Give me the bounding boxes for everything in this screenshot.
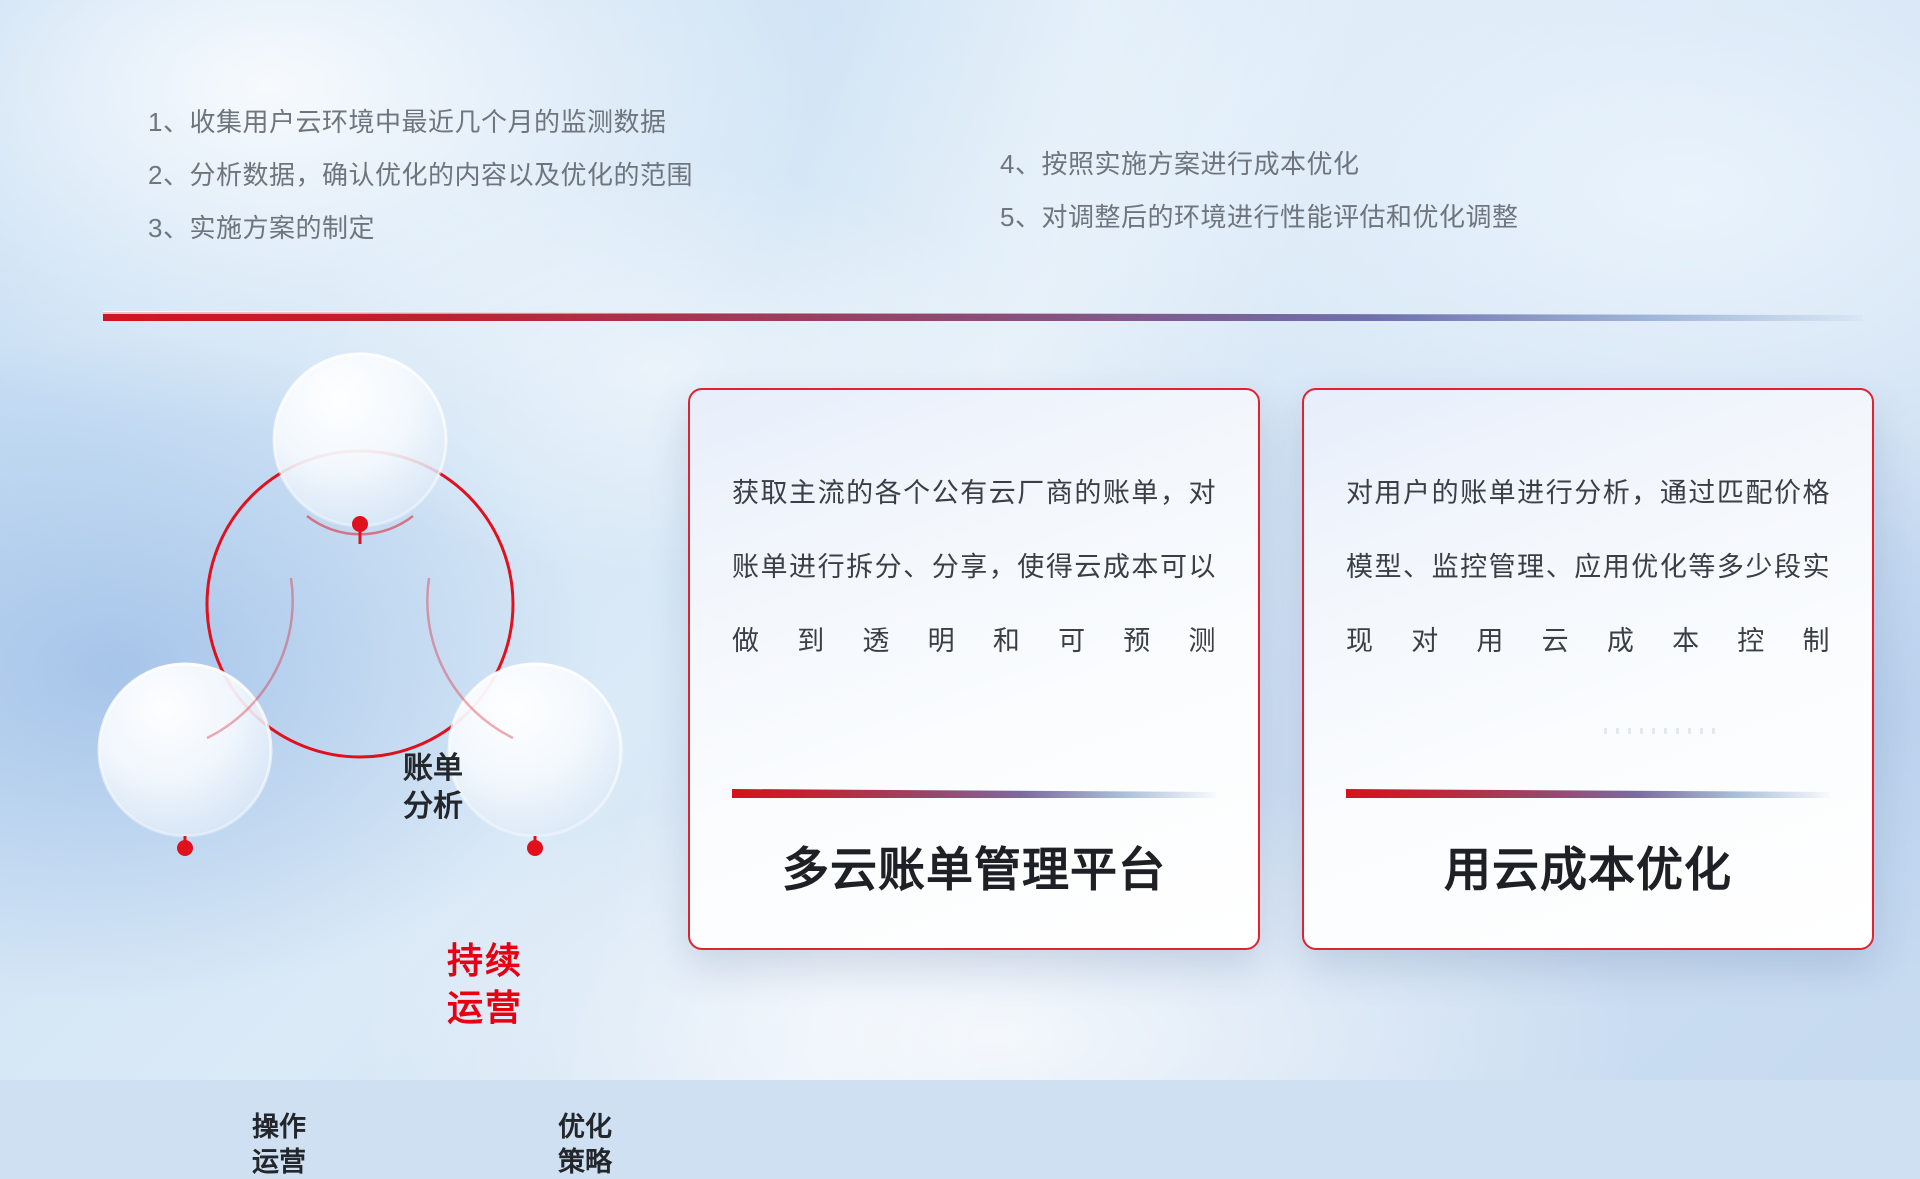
process-step-2: 2、分析数据，确认优化的内容以及优化的范围 — [148, 149, 693, 202]
diagram-node-label-top: 账单 分析 — [343, 750, 523, 827]
diagram-node-label-left: 操作 运营 — [189, 1110, 369, 1179]
feature-card-1-title: 多云账单管理平台 — [690, 831, 1258, 900]
diagram-node-label-top-line1: 账单 — [343, 750, 523, 788]
diagram-center-label-line1: 持续 — [385, 938, 585, 985]
diagram-node-dot-left — [177, 840, 193, 856]
process-steps: 1、收集用户云环境中最近几个月的监测数据 2、分析数据，确认优化的内容以及优化的… — [0, 96, 1920, 276]
diagram-svg — [95, 350, 655, 950]
process-steps-right-column: 4、按照实施方案进行成本优化 5、对调整后的环境进行性能评估和优化调整 — [1000, 138, 1518, 244]
feature-card-1-body: 获取主流的各个公有云厂商的账单，对账单进行拆分、分享，使得云成本可以做到透明和可… — [732, 456, 1216, 678]
diagram-center-label-line2: 运营 — [385, 985, 585, 1032]
feature-card-multicloud-billing[interactable]: 获取主流的各个公有云厂商的账单，对账单进行拆分、分享，使得云成本可以做到透明和可… — [688, 388, 1260, 950]
diagram-node-dot-right — [527, 840, 543, 856]
feature-card-cloud-cost-optimization[interactable]: 对用户的账单进行分析，通过匹配价格模型、监控管理、应用优化等多少段实现对用云成本… — [1302, 388, 1874, 950]
feature-card-2-title: 用云成本优化 — [1304, 831, 1872, 900]
process-step-1: 1、收集用户云环境中最近几个月的监测数据 — [148, 96, 693, 149]
diagram-node-label-top-line2: 分析 — [343, 788, 523, 826]
diagram-node-label-left-line2: 运营 — [189, 1145, 369, 1179]
diagram-node-circle-top — [274, 354, 446, 526]
process-step-3: 3、实施方案的制定 — [148, 202, 693, 255]
diagram-node-label-left-line1: 操作 — [189, 1110, 369, 1145]
diagram-node-dot-top — [352, 516, 368, 532]
diagram-center-label: 持续 运营 — [385, 938, 585, 1032]
process-steps-left-column: 1、收集用户云环境中最近几个月的监测数据 2、分析数据，确认优化的内容以及优化的… — [148, 96, 693, 255]
continuous-operation-diagram: 账单 分析 操作 运营 优化 策略 持续 运营 — [95, 350, 655, 950]
diagram-node-label-right-line1: 优化 — [495, 1110, 675, 1145]
diagram-node-label-right: 优化 策略 — [495, 1110, 675, 1179]
feature-card-2-dotted-ornament — [1604, 728, 1724, 734]
diagram-node-label-right-line2: 策略 — [495, 1145, 675, 1179]
feature-card-2-body: 对用户的账单进行分析，通过匹配价格模型、监控管理、应用优化等多少段实现对用云成本… — [1346, 456, 1830, 678]
diagram-node-circle-left — [99, 664, 271, 836]
process-step-5: 5、对调整后的环境进行性能评估和优化调整 — [1000, 191, 1518, 244]
process-step-4: 4、按照实施方案进行成本优化 — [1000, 138, 1518, 191]
